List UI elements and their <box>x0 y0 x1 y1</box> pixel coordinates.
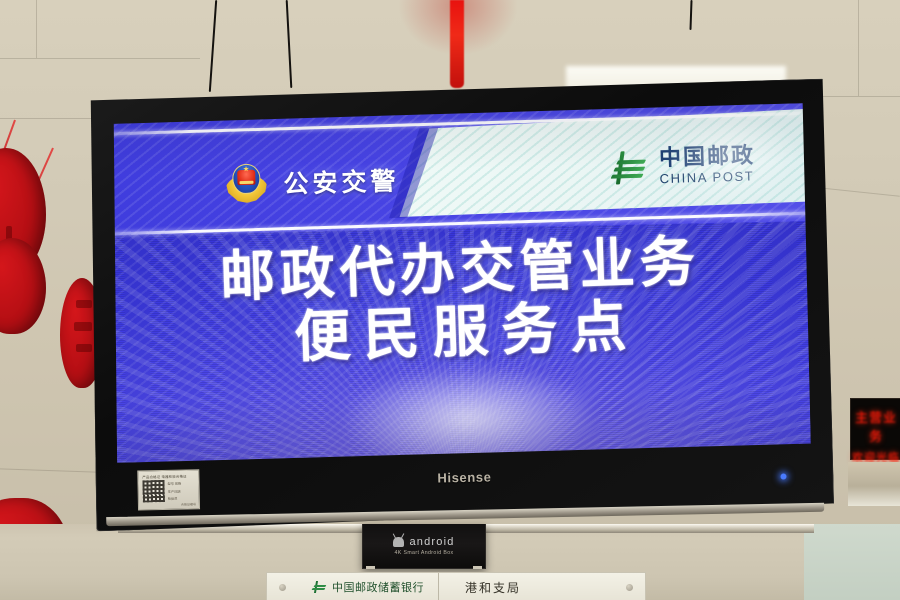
led-marquee-sign: 主营业务 欢迎光临 <box>850 398 900 460</box>
counter-sign: 中国邮政储蓄银行 港和支局 <box>266 572 646 600</box>
right-green-panel <box>804 524 900 600</box>
ceiling-cable-icon <box>286 0 293 88</box>
android-wordmark: android <box>409 536 454 548</box>
counter-sign-left: 中国邮政储蓄银行 <box>267 573 439 600</box>
led-line-1: 主营业务 <box>851 407 900 445</box>
wall-mounted-tv: 公安交警 中国邮政 CHINA POST 邮政代办交管业务 便民服务点 <box>88 79 835 532</box>
android-tv-box: android 4K Smart Android Box <box>362 524 486 569</box>
sticker-line-1: 型号 规格 <box>167 481 181 486</box>
red-tassel-icon <box>450 0 464 88</box>
android-logo-row: android <box>393 536 454 548</box>
android-robot-icon <box>393 537 404 547</box>
product-certificate-sticker: 产品合格证 电器检验合格证 型号 规格 生产日期 检验员 合格证编号 <box>137 469 200 510</box>
sticker-lines: 型号 规格 生产日期 检验员 <box>167 480 181 501</box>
screen-content: 公安交警 中国邮政 CHINA POST 邮政代办交管业务 便民服务点 <box>110 103 811 463</box>
sign-screw <box>626 584 633 591</box>
branch-name-label: 港和支局 <box>439 579 521 596</box>
sticker-body: 型号 规格 生产日期 检验员 <box>142 479 195 502</box>
qr-code-icon <box>142 480 164 502</box>
wall-seam <box>0 468 96 472</box>
screen-vignette <box>110 103 811 463</box>
sticker-line-2: 生产日期 <box>168 488 182 493</box>
android-box-subtitle: 4K Smart Android Box <box>394 550 453 556</box>
bank-name-label: 中国邮政储蓄银行 <box>332 579 424 595</box>
ceiling-tile-seam <box>0 58 200 59</box>
sign-screw <box>279 584 286 591</box>
android-box-feet <box>362 566 486 570</box>
sticker-footer: 合格证编号 <box>143 502 196 507</box>
led-sign-shelf <box>848 462 900 506</box>
ceiling-cable-icon <box>209 0 217 92</box>
sticker-line-3: 检验员 <box>168 496 182 501</box>
power-led-indicator <box>780 474 786 480</box>
ceiling-tile-seam <box>858 0 859 96</box>
tv-screen[interactable]: 公安交警 中国邮政 CHINA POST 邮政代办交管业务 便民服务点 <box>110 103 811 463</box>
ceiling-cable-icon <box>689 0 692 30</box>
china-post-savings-bank-icon <box>311 581 327 594</box>
red-lantern-icon <box>0 238 46 334</box>
ceiling-tile-seam <box>36 0 37 58</box>
